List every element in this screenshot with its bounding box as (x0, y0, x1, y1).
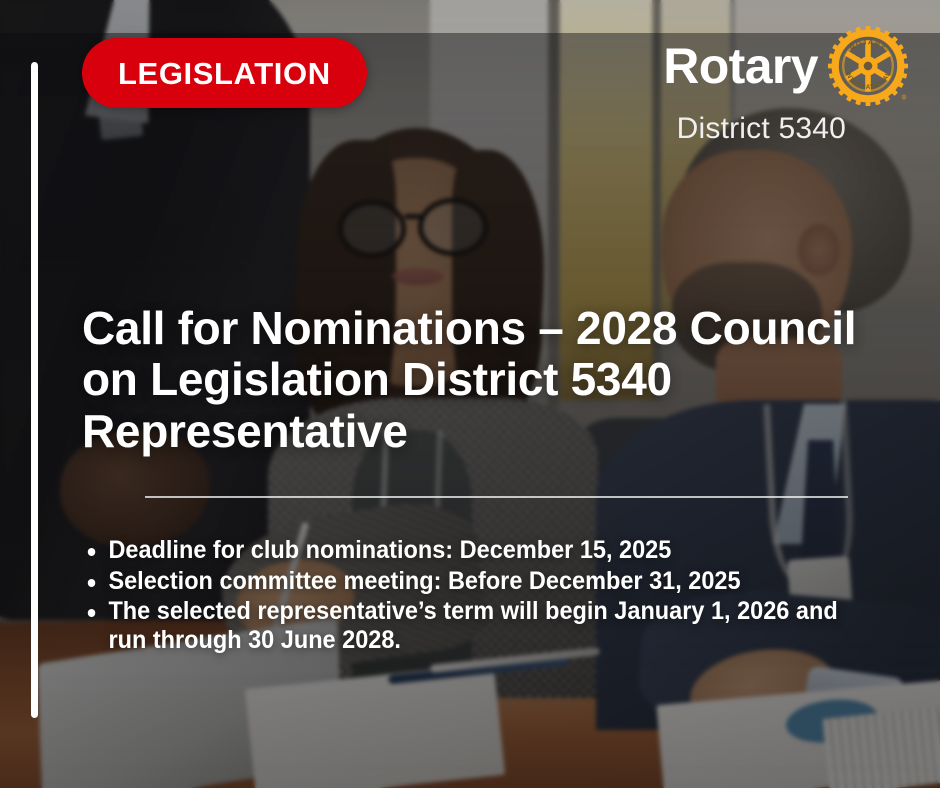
list-item: Selection committee meeting: Before Dece… (84, 567, 864, 596)
svg-text:®: ® (902, 94, 907, 102)
rotary-gear-logo-icon: ROTARY INTERNATIONAL ® (828, 26, 908, 106)
rotary-brand-lockup: Rotary (663, 26, 908, 147)
key-dates-list: Deadline for club nominations: December … (84, 536, 914, 656)
horizontal-divider (145, 496, 848, 498)
rotary-announcement-poster: LEGISLATION Rotary (0, 0, 940, 788)
rotary-wordmark: Rotary (663, 41, 818, 91)
rotary-district-label: District 5340 (663, 112, 846, 147)
list-item: Deadline for club nominations: December … (84, 536, 864, 565)
category-badge-label: LEGISLATION (118, 58, 331, 89)
list-item: The selected representative’s term will … (84, 597, 864, 654)
left-accent-bar (31, 62, 38, 718)
category-badge-legislation[interactable]: LEGISLATION (82, 38, 367, 108)
page-title: Call for Nominations – 2028 Council on L… (82, 303, 887, 458)
